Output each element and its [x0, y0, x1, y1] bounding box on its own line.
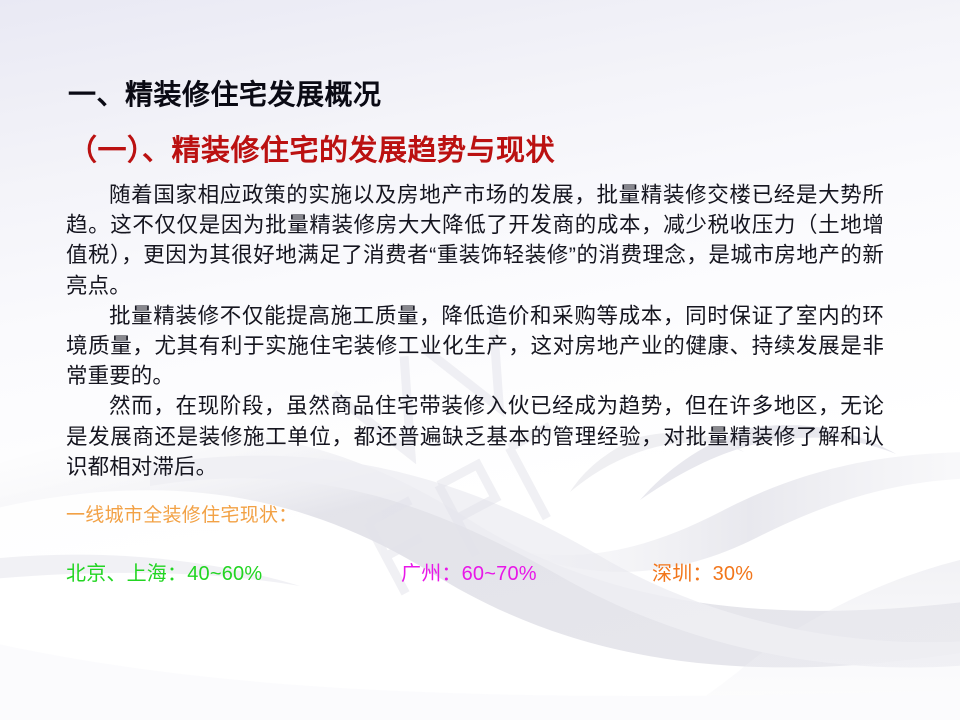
paragraph-3: 然而，在现阶段，虽然商品住宅带装修入伙已经成为趋势，但在许多地区，无论是发展商还…	[66, 391, 884, 482]
stat-beijing-shanghai: 北京、上海：40~60%	[66, 557, 262, 586]
page-title: 一、精装修住宅发展概况	[68, 73, 382, 113]
section-subtitle: （一）、精装修住宅的发展趋势与现状	[68, 127, 555, 169]
stat-shenzhen: 深圳：30%	[652, 557, 753, 586]
stats-label: 一线城市全装修住宅现状：	[66, 500, 298, 527]
slide-content: 一、精装修住宅发展概况 （一）、精装修住宅的发展趋势与现状 随着国家相应政策的实…	[0, 0, 960, 720]
presentation-slide: 一、精装修住宅发展概况 （一）、精装修住宅的发展趋势与现状 随着国家相应政策的实…	[0, 0, 960, 720]
paragraph-1: 随着国家相应政策的实施以及房地产市场的发展，批量精装修交楼已经是大势所趋。这不仅…	[66, 180, 884, 301]
city-stats-row: 北京、上海：40~60% 广州：60~70% 深圳：30%	[66, 557, 896, 591]
paragraph-2: 批量精装修不仅能提高施工质量，降低造价和采购等成本，同时保证了室内的环境质量，尤…	[66, 301, 884, 392]
body-text-block: 随着国家相应政策的实施以及房地产市场的发展，批量精装修交楼已经是大势所趋。这不仅…	[66, 180, 884, 482]
stat-guangzhou: 广州：60~70%	[401, 557, 537, 586]
